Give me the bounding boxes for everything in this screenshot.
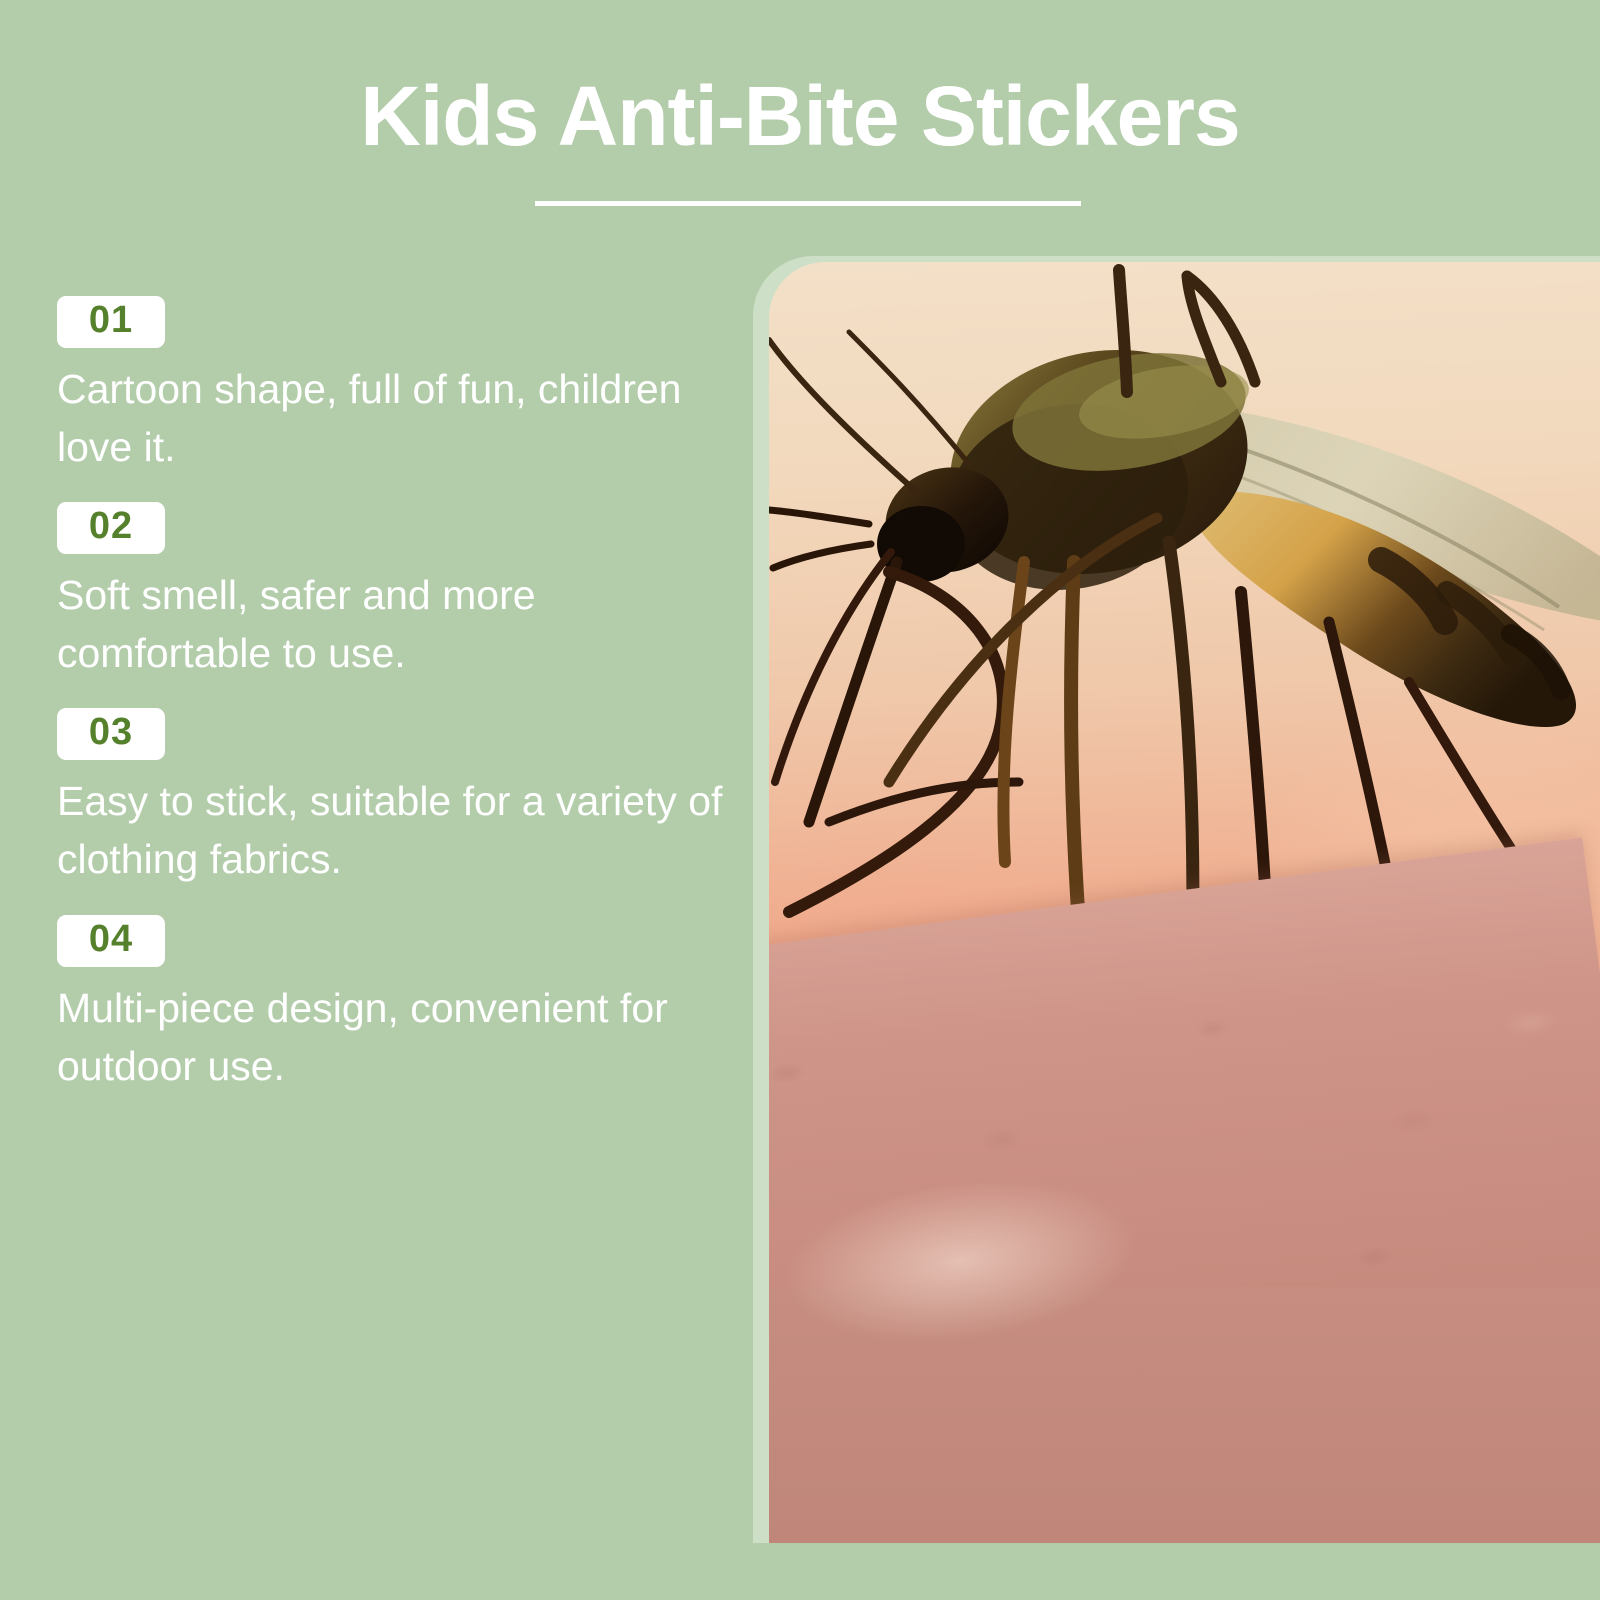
- feature-text-04: Multi-piece design, convenient for outdo…: [57, 979, 747, 1095]
- feature-text-02: Soft smell, safer and more comfortable t…: [57, 566, 747, 682]
- feature-number-badge-01: 01: [57, 296, 165, 348]
- feature-number-badge-03: 03: [57, 708, 165, 760]
- feature-item-01: 01 Cartoon shape, full of fun, children …: [57, 296, 757, 476]
- feature-item-04: 04 Multi-piece design, convenient for ou…: [57, 915, 757, 1095]
- feature-number-badge-04: 04: [57, 915, 165, 967]
- product-infographic: Kids Anti-Bite Stickers: [0, 0, 1600, 1600]
- feature-list: 01 Cartoon shape, full of fun, children …: [57, 296, 757, 1121]
- photo-inner: [769, 262, 1600, 1543]
- feature-item-03: 03 Easy to stick, suitable for a variety…: [57, 708, 757, 888]
- feature-item-02: 02 Soft smell, safer and more comfortabl…: [57, 502, 757, 682]
- product-photo: [769, 262, 1600, 1543]
- feature-text-03: Easy to stick, suitable for a variety of…: [57, 772, 747, 888]
- title-divider: [535, 201, 1081, 206]
- feature-text-01: Cartoon shape, full of fun, children lov…: [57, 360, 747, 476]
- page-title: Kids Anti-Bite Stickers: [0, 0, 1600, 160]
- feature-number-badge-02: 02: [57, 502, 165, 554]
